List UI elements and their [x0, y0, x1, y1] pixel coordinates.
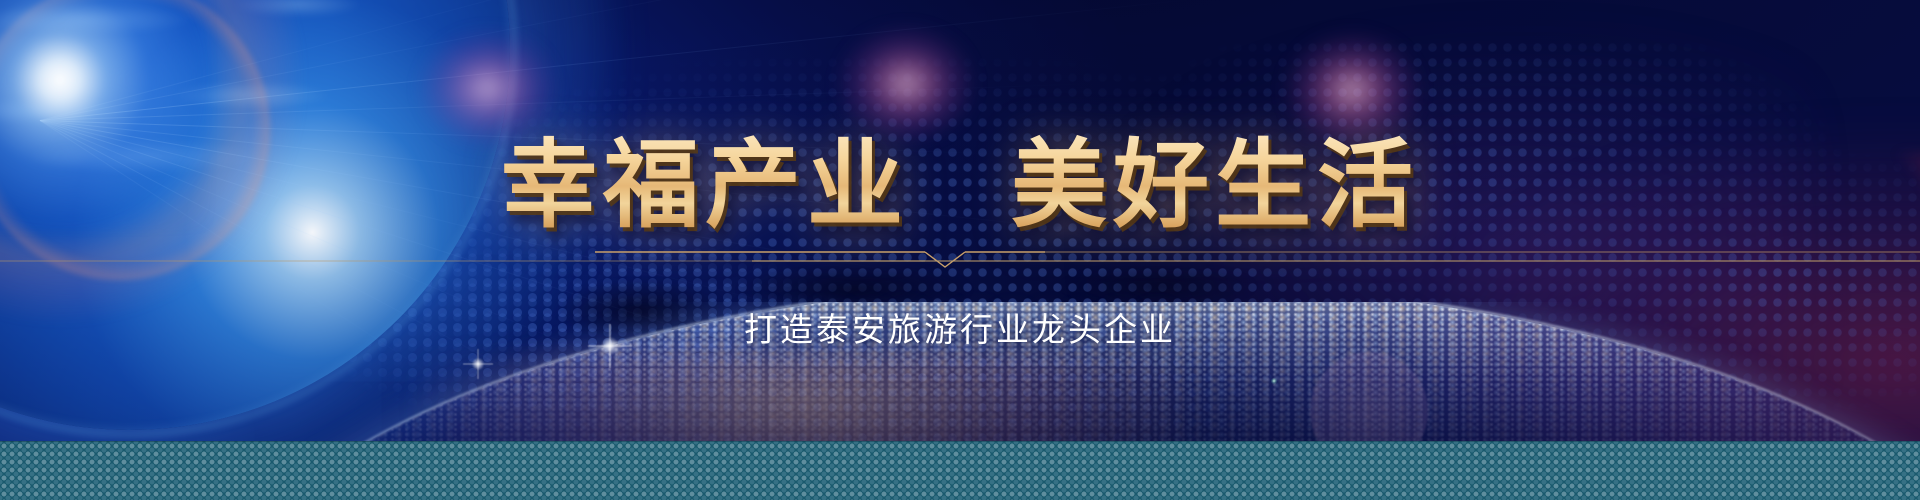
hero-banner: 幸福产业 美好生活 打造泰安旅游行业龙头企业 — [0, 0, 1920, 500]
page-title: 幸福产业 美好生活 — [0, 132, 1920, 240]
banner-subtitle: 打造泰安旅游行业龙头企业 — [0, 303, 1920, 351]
gold-diamond-divider — [0, 238, 1920, 272]
divider-svg — [0, 238, 1920, 272]
banner-content: 幸福产业 美好生活 打造泰安旅游行业龙头企业 — [0, 0, 1920, 500]
headline-glow-spots — [0, 0, 1920, 500]
headline-glow-spot — [422, 32, 554, 144]
bottom-teal-bar — [0, 441, 1920, 500]
headline-glow-spot — [840, 28, 972, 140]
divider-v-notch — [925, 252, 965, 267]
headline-glow-spot — [1286, 34, 1418, 146]
